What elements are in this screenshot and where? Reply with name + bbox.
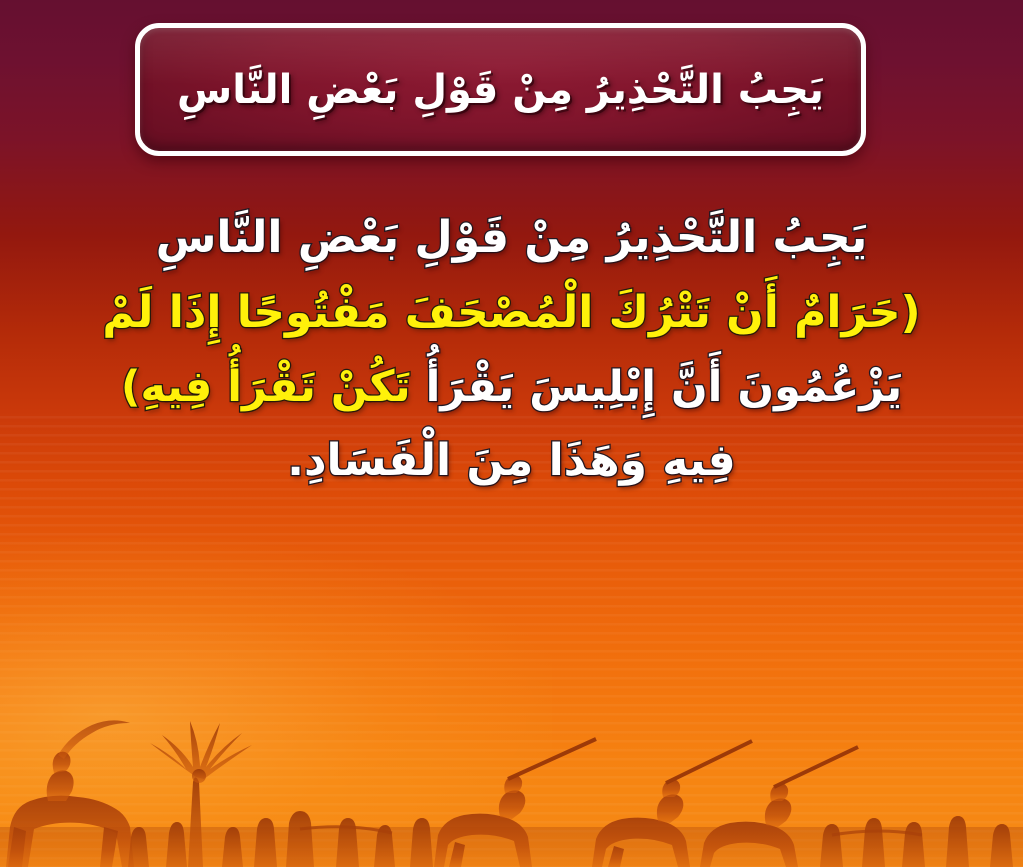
banner-plate: يَجِبُ التَّحْذِيرُ مِنْ قَوْلِ بَعْضِ ا… bbox=[135, 23, 866, 156]
palm-tree-shape bbox=[150, 721, 252, 867]
body-line-closing: فِيهِ وَهَذَا مِنَ الْفَسَادِ. bbox=[14, 428, 1009, 495]
walking-figures bbox=[128, 811, 433, 867]
body-line-mixed: يَزْعُمُونَ أَنَّ إِبْلِيسَ يَقْرَأُ تَك… bbox=[14, 355, 1009, 420]
desert-caravan-silhouette bbox=[0, 677, 1023, 867]
body-line-claim-white-segment: يَزْعُمُونَ أَنَّ إِبْلِيسَ يَقْرَأُ bbox=[426, 362, 902, 412]
poster-canvas: يَجِبُ التَّحْذِيرُ مِنْ قَوْلِ بَعْضِ ا… bbox=[0, 0, 1023, 867]
title-banner: يَجِبُ التَّحْذِيرُ مِنْ قَوْلِ بَعْضِ ا… bbox=[135, 23, 866, 156]
camel-rider-left bbox=[6, 720, 134, 867]
body-line-quote-part-2-yellow-segment: تَكُنْ تَقْرَأُ فِيهِ) bbox=[121, 362, 411, 412]
camel-riders-with-spears bbox=[434, 739, 858, 867]
body-line-heading-repeat: يَجِبُ التَّحْذِيرُ مِنْ قَوْلِ بَعْضِ ا… bbox=[14, 205, 1009, 272]
caravan-line-right bbox=[820, 816, 1013, 867]
banner-title-text: يَجِبُ التَّحْذِيرُ مِنْ قَوْلِ بَعْضِ ا… bbox=[161, 65, 840, 115]
body-line-quote-part-1: (حَرَامٌ أَنْ تَتْرُكَ الْمُصْحَفَ مَفْت… bbox=[14, 280, 1009, 347]
sunset-glow bbox=[0, 538, 552, 833]
body-text-block: يَجِبُ التَّحْذِيرُ مِنْ قَوْلِ بَعْضِ ا… bbox=[0, 205, 1023, 495]
